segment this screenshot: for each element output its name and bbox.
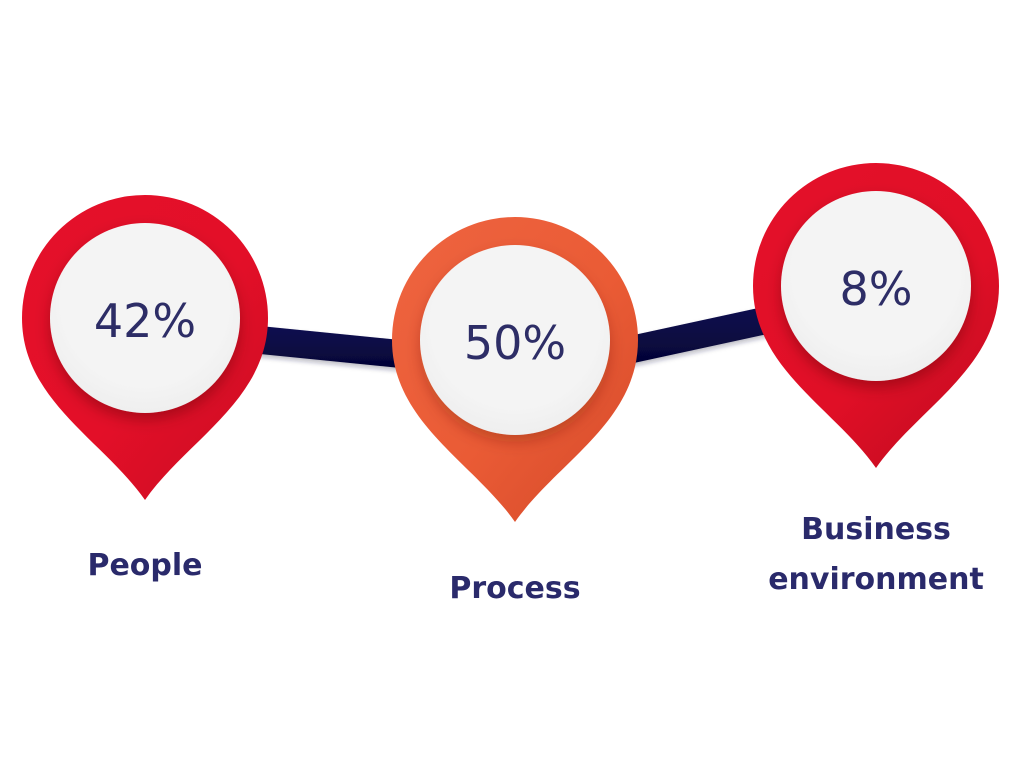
infographic-canvas: 42% People 50% Process 8% Business envir…	[0, 0, 1024, 768]
marker-value-process: 50%	[464, 316, 566, 370]
marker-business-environment[interactable]: 8%	[753, 163, 999, 468]
marker-value-people: 42%	[94, 294, 196, 348]
marker-value-business-environment: 8%	[840, 262, 913, 316]
marker-caption-people: People	[87, 548, 202, 583]
marker-caption-process: Process	[449, 571, 580, 606]
connector-people-to-process	[250, 325, 400, 368]
marker-people[interactable]: 42%	[22, 195, 268, 500]
marker-caption-business-environment-line2: environment	[768, 562, 984, 597]
marker-chart: 42% People 50% Process 8% Business envir…	[0, 0, 1024, 768]
marker-caption-business-environment-line1: Business	[801, 512, 951, 547]
marker-process[interactable]: 50%	[392, 217, 638, 522]
